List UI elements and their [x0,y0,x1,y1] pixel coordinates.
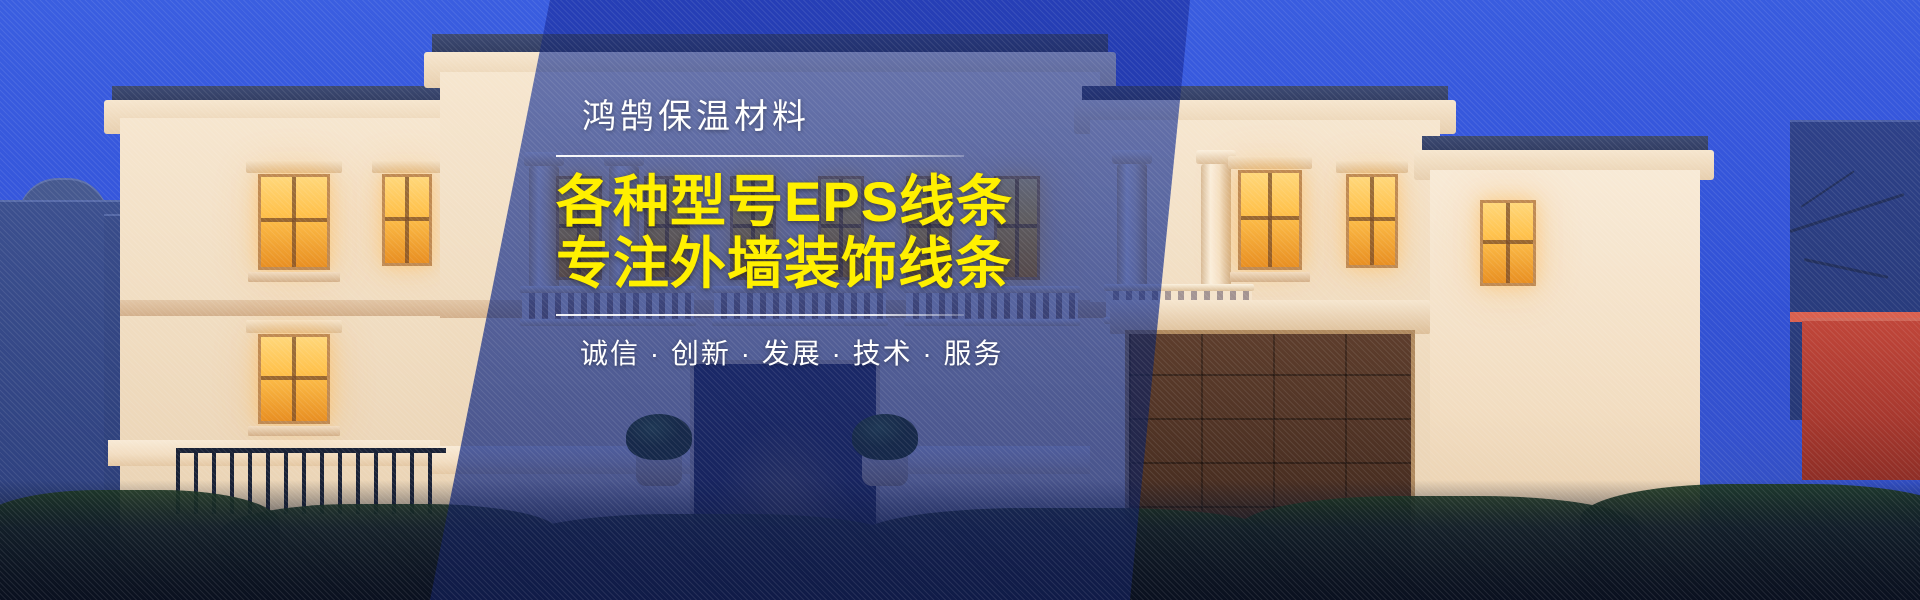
tagline: 诚信 · 创新 · 发展 · 技术 · 服务 [556,332,1026,372]
window-sill [248,426,340,436]
divider-bottom [556,314,964,316]
window-lit [1238,170,1302,270]
window-lit [258,174,330,270]
window-lit [1346,174,1398,268]
window-lit [1480,200,1536,286]
brand-name: 鸿鹄保温材料 [556,96,1026,139]
window-hood [1336,160,1408,173]
left-wing-string-course [120,300,450,316]
portico-column [1201,164,1231,286]
window-hood [372,160,442,173]
divider-top [556,155,964,157]
window-hood [246,320,342,333]
red-structure-wall [1802,318,1920,480]
window-lit [258,334,330,424]
headline-line-1: 各种型号EPS线条 [556,171,1026,234]
window-sill [248,272,340,282]
window-sill [1230,272,1310,282]
window-hood [246,160,342,173]
promotional-banner: 鸿鹄保温材料 各种型号EPS线条 专注外墙装饰线条 诚信 · 创新 · 发展 ·… [0,0,1920,600]
window-hood [1228,156,1312,169]
banner-copy-block: 鸿鹄保温材料 各种型号EPS线条 专注外墙装饰线条 诚信 · 创新 · 发展 ·… [556,96,1026,372]
window-lit [382,174,432,266]
headline-line-2: 专注外墙装饰线条 [556,233,1026,296]
